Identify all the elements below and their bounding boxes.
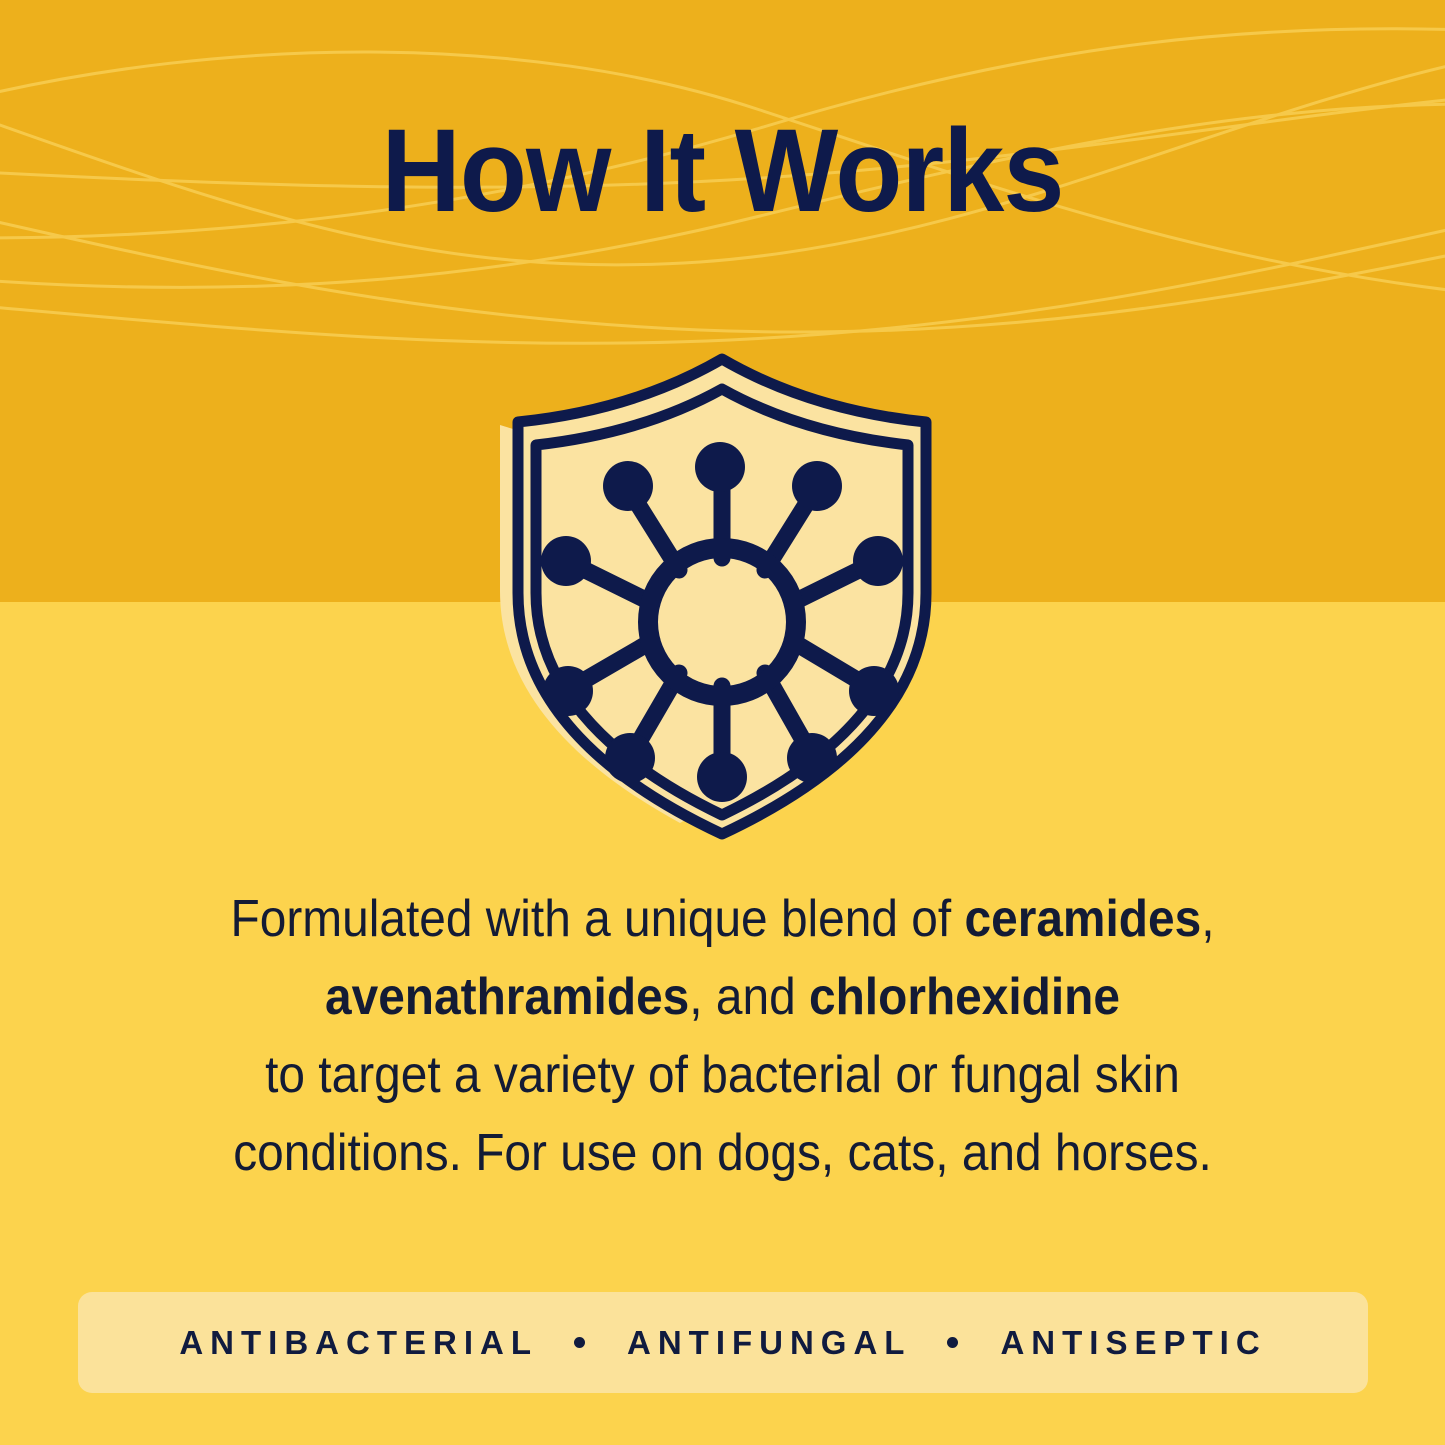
body-text: , and bbox=[689, 968, 809, 1026]
body-text: conditions. For use on dogs, cats, and h… bbox=[233, 1124, 1212, 1182]
how-it-works-poster: How It Works bbox=[0, 0, 1445, 1445]
claim-antiseptic: ANTISEPTIC bbox=[1000, 1324, 1266, 1362]
body-copy: Formulated with a unique blend of cerami… bbox=[168, 880, 1277, 1192]
claim-antibacterial: ANTIBACTERIAL bbox=[179, 1324, 538, 1362]
body-line-3: to target a variety of bacterial or fung… bbox=[168, 1036, 1277, 1114]
claim-antifungal: ANTIFUNGAL bbox=[627, 1324, 911, 1362]
body-line-1: Formulated with a unique blend of cerami… bbox=[168, 880, 1277, 958]
body-text: to target a variety of bacterial or fung… bbox=[265, 1046, 1180, 1104]
claims-list: ANTIBACTERIAL ANTIFUNGAL ANTISEPTIC bbox=[179, 1324, 1266, 1362]
body-line-4: conditions. For use on dogs, cats, and h… bbox=[168, 1114, 1277, 1192]
shield-virus-icon bbox=[482, 345, 962, 840]
body-text: Formulated with a unique blend of bbox=[230, 890, 964, 948]
claim-separator-dot-icon bbox=[947, 1337, 958, 1348]
body-text-bold: avenathramides bbox=[325, 968, 689, 1026]
claim-separator-dot-icon bbox=[574, 1337, 585, 1348]
page-title: How It Works bbox=[51, 112, 1395, 230]
body-text-bold: ceramides bbox=[964, 890, 1201, 948]
body-text-bold: chlorhexidine bbox=[809, 968, 1120, 1026]
claims-bar: ANTIBACTERIAL ANTIFUNGAL ANTISEPTIC bbox=[78, 1292, 1368, 1393]
body-line-2: avenathramides, and chlorhexidine bbox=[168, 958, 1277, 1036]
body-text: , bbox=[1201, 890, 1214, 948]
